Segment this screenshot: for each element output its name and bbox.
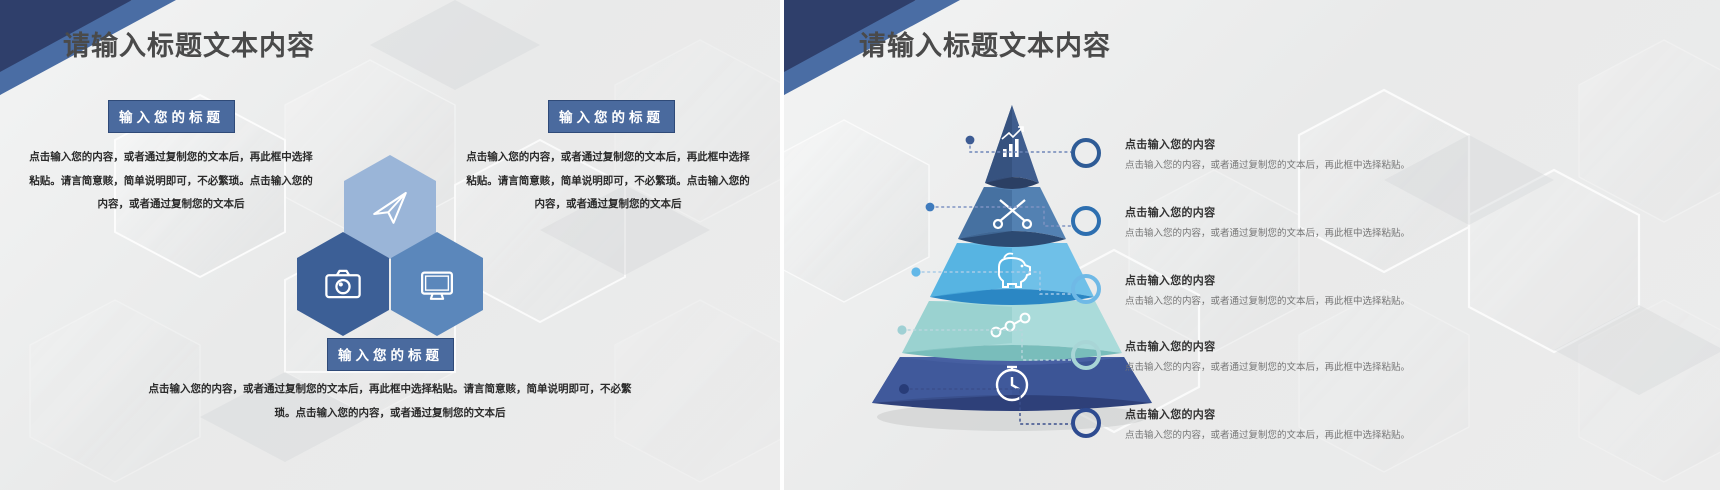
section-badge-1: 输入您的标题 [108,100,235,133]
pyramid-layer-3 [930,243,1094,305]
monitor-icon [416,263,458,305]
list-item-heading-4: 点击输入您的内容 [1125,338,1215,354]
list-item-body-2: 点击输入您的内容，或者通过复制您的文本后，再此框中选择粘贴。 [1125,225,1425,243]
camera-icon [322,263,364,305]
paper-plane-icon [369,186,411,228]
list-item-heading-5: 点击输入您的内容 [1125,406,1215,422]
ring-marker-4 [1071,340,1101,370]
page-title-right: 请输入标题文本内容 [859,24,1111,63]
ring-marker-2 [1071,206,1101,236]
page-title: 请输入标题文本内容 [63,24,315,63]
pyramid-layer-2 [958,187,1066,247]
slide-right: 请输入标题文本内容 [784,0,1720,490]
list-item-body-4: 点击输入您的内容，或者通过复制您的文本后，再此框中选择粘贴。 [1125,359,1425,377]
section-body-3: 点击输入您的内容，或者通过复制您的文本后，再此框中选择粘贴。请言简意赅，简单说明… [140,378,640,425]
section-body-1: 点击输入您的内容，或者通过复制您的文本后，再此框中选择粘贴。请言简意赅，简单说明… [25,146,317,217]
section-badge-3: 输入您的标题 [327,338,454,371]
list-item-body-3: 点击输入您的内容，或者通过复制您的文本后，再此框中选择粘贴。 [1125,293,1425,311]
list-item-heading-3: 点击输入您的内容 [1125,272,1215,288]
slide-left: 请输入标题文本内容 输入您的标题 点击输入您的内容，或者通过复制您的文本后，再此… [0,0,780,490]
ring-marker-5 [1071,408,1101,438]
ring-marker-1 [1071,138,1101,168]
list-item-heading-1: 点击输入您的内容 [1125,136,1215,152]
section-badge-2: 输入您的标题 [548,100,675,133]
list-item-body-5: 点击输入您的内容，或者通过复制您的文本后，再此框中选择粘贴。 [1125,427,1425,445]
list-item-body-1: 点击输入您的内容，或者通过复制您的文本后，再此框中选择粘贴。 [1125,157,1425,175]
ring-marker-3 [1071,274,1101,304]
section-body-2: 点击输入您的内容，或者通过复制您的文本后，再此框中选择粘贴。请言简意赅，简单说明… [462,146,754,217]
list-item-heading-2: 点击输入您的内容 [1125,204,1215,220]
presentation-stage: 请输入标题文本内容 输入您的标题 点击输入您的内容，或者通过复制您的文本后，再此… [0,0,1720,490]
